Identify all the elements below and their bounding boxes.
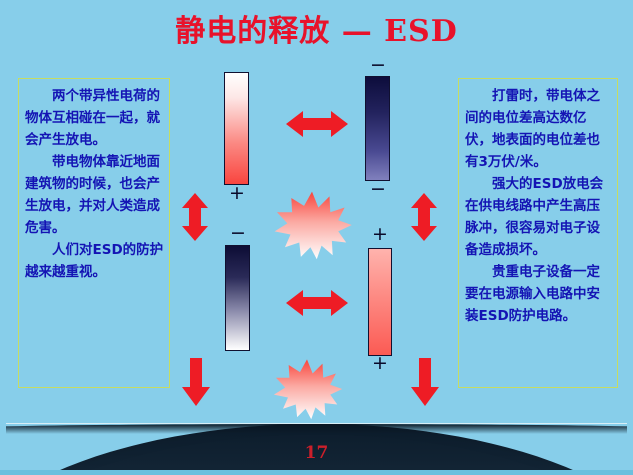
minus-sign-below-top-right-bar: − bbox=[368, 180, 388, 199]
discharge-burst-icon-bottom bbox=[262, 358, 352, 424]
right-text-box: 打雷时，带电体之间的电位差高达数亿伏，地表面的电位差也有3万伏/米。 强大的ES… bbox=[458, 78, 618, 388]
left-text-box: 两个带异性电荷的物体互相碰在一起，就会产生放电。 带电物体靠近地面建筑物的时候，… bbox=[18, 78, 170, 388]
page-title: 静电的释放 — ESD bbox=[0, 6, 633, 50]
down-arrow-icon-right bbox=[410, 358, 440, 406]
globe-horizon-shadow bbox=[6, 424, 627, 434]
minus-sign-above-bottom-left-bar: − bbox=[228, 224, 248, 243]
horizontal-double-arrow-icon-top bbox=[286, 108, 348, 140]
down-arrow-icon-left bbox=[181, 358, 211, 406]
left-paragraph-2: 带电物体靠近地面建筑物的时候，也会产生放电，并对人类造成危害。 bbox=[25, 151, 164, 239]
minus-sign-above-top-right-bar: − bbox=[368, 56, 388, 75]
discharge-burst-icon-top bbox=[272, 190, 352, 264]
horizontal-double-arrow-icon-bottom bbox=[286, 287, 348, 319]
vertical-double-arrow-icon-left bbox=[180, 193, 210, 241]
slide: 静电的释放 — ESD 两个带异性电荷的物体互相碰在一起，就会产生放电。 带电物… bbox=[0, 0, 633, 475]
right-paragraph-2: 强大的ESD放电会在供电线路中产生高压脉冲，很容易对电子设备造成损坏。 bbox=[465, 173, 612, 261]
right-paragraph-3: 贵重电子设备一定要在电源输入电路中安装ESD防护电路。 bbox=[465, 261, 612, 327]
positive-charge-bar-top bbox=[224, 72, 249, 185]
plus-sign-top-left-bar: + bbox=[227, 184, 247, 203]
footer-bottom-bar bbox=[0, 470, 633, 475]
negative-charge-bar-bottom bbox=[225, 245, 250, 351]
vertical-double-arrow-icon-right bbox=[409, 193, 439, 241]
plus-sign-below-bottom-right-bar: + bbox=[370, 354, 390, 373]
left-paragraph-3: 人们对ESD的防护越来越重视。 bbox=[25, 239, 164, 283]
earth-footer-strip: 17 bbox=[0, 420, 633, 475]
negative-charge-bar-top bbox=[365, 76, 390, 181]
positive-charge-bar-bottom bbox=[368, 248, 392, 356]
right-paragraph-1: 打雷时，带电体之间的电位差高达数亿伏，地表面的电位差也有3万伏/米。 bbox=[465, 85, 612, 173]
left-paragraph-1: 两个带异性电荷的物体互相碰在一起，就会产生放电。 bbox=[25, 85, 164, 151]
plus-sign-above-bottom-right-bar: + bbox=[370, 225, 390, 244]
page-number: 17 bbox=[0, 443, 633, 463]
